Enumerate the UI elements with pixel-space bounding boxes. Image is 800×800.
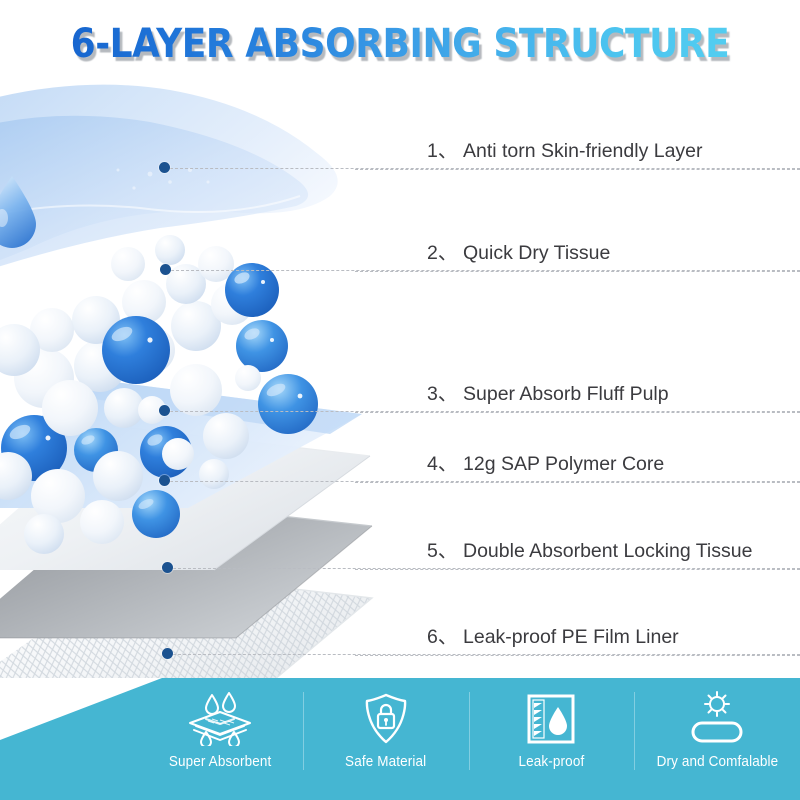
blue-gel-bead — [236, 320, 288, 372]
page-title: 6-LAYER ABSORBING STRUCTURE — [0, 18, 800, 74]
layer-index-5: 5、 — [427, 534, 457, 563]
droplet-panel-icon — [526, 690, 576, 748]
shield-lock-icon — [362, 690, 410, 748]
layer-rule-4 — [355, 482, 800, 483]
layer-marker-3 — [159, 405, 170, 416]
layer-list-item-4[interactable]: 4、 12g SAP Polymer Core — [355, 437, 800, 483]
product-infographic: 6-LAYER ABSORBING STRUCTURE — [0, 0, 800, 800]
blue-gel-bead — [225, 263, 279, 317]
layer-rule-6 — [355, 655, 800, 656]
feature-label-dry-comfortable: Dry and Comfalable — [656, 754, 778, 770]
layer-list-item-3[interactable]: 3、 Super Absorb Fluff Pulp — [355, 367, 800, 413]
layer-rule-3 — [355, 412, 800, 413]
layer-label-4: 12g SAP Polymer Core — [463, 453, 664, 476]
feature-item-super-absorbent[interactable]: Super Absorbent — [137, 678, 303, 800]
sun-pad-icon — [681, 690, 753, 748]
feature-label-super-absorbent: Super Absorbent — [169, 754, 272, 770]
layer-index-3: 3、 — [427, 377, 457, 406]
absorbent-layers-icon — [184, 690, 256, 748]
layer-index-1: 1、 — [427, 134, 457, 163]
feature-label-safe-material: Safe Material — [345, 754, 426, 770]
layer-index-6: 6、 — [427, 620, 457, 649]
layer-list-item-5[interactable]: 5、 Double Absorbent Locking Tissue — [355, 524, 800, 570]
layer-marker-1 — [159, 162, 170, 173]
layer-label-5: Double Absorbent Locking Tissue — [463, 540, 752, 563]
layer-list-item-1[interactable]: 1、 Anti torn Skin-friendly Layer — [355, 124, 800, 170]
layer-label-6: Leak-proof PE Film Liner — [463, 626, 679, 649]
feature-item-dry-comfortable[interactable]: Dry and Comfalable — [634, 678, 800, 800]
layer-marker-2 — [160, 264, 171, 275]
feature-item-safe-material[interactable]: Safe Material — [303, 678, 469, 800]
blue-gel-bead — [102, 316, 170, 384]
layer-marker-5 — [162, 562, 173, 573]
layer-list: 1、 Anti torn Skin-friendly Layer 2、 Quic… — [355, 110, 800, 680]
blue-gel-bead — [258, 374, 318, 434]
layer-list-item-2[interactable]: 2、 Quick Dry Tissue — [355, 226, 800, 272]
layer-list-item-6[interactable]: 6、 Leak-proof PE Film Liner — [355, 610, 800, 656]
layer-label-3: Super Absorb Fluff Pulp — [463, 383, 669, 406]
blue-gel-bead — [132, 490, 180, 538]
layer-rule-2 — [355, 271, 800, 272]
layer-marker-4 — [159, 475, 170, 486]
page-title-text: 6-LAYER ABSORBING STRUCTURE — [71, 18, 730, 70]
layer-label-1: Anti torn Skin-friendly Layer — [463, 140, 703, 163]
feature-label-leak-proof: Leak-proof — [518, 754, 584, 770]
feature-item-leak-proof[interactable]: Leak-proof — [469, 678, 635, 800]
layer-rule-1 — [355, 169, 800, 170]
feature-bar: Super Absorbent Safe Material — [0, 678, 800, 800]
layer-rule-5 — [355, 569, 800, 570]
feature-item-list: Super Absorbent Safe Material — [137, 678, 800, 800]
layer-index-4: 4、 — [427, 447, 457, 476]
layer-index-2: 2、 — [427, 236, 457, 265]
layer-label-2: Quick Dry Tissue — [463, 242, 610, 265]
layer-marker-6 — [162, 648, 173, 659]
